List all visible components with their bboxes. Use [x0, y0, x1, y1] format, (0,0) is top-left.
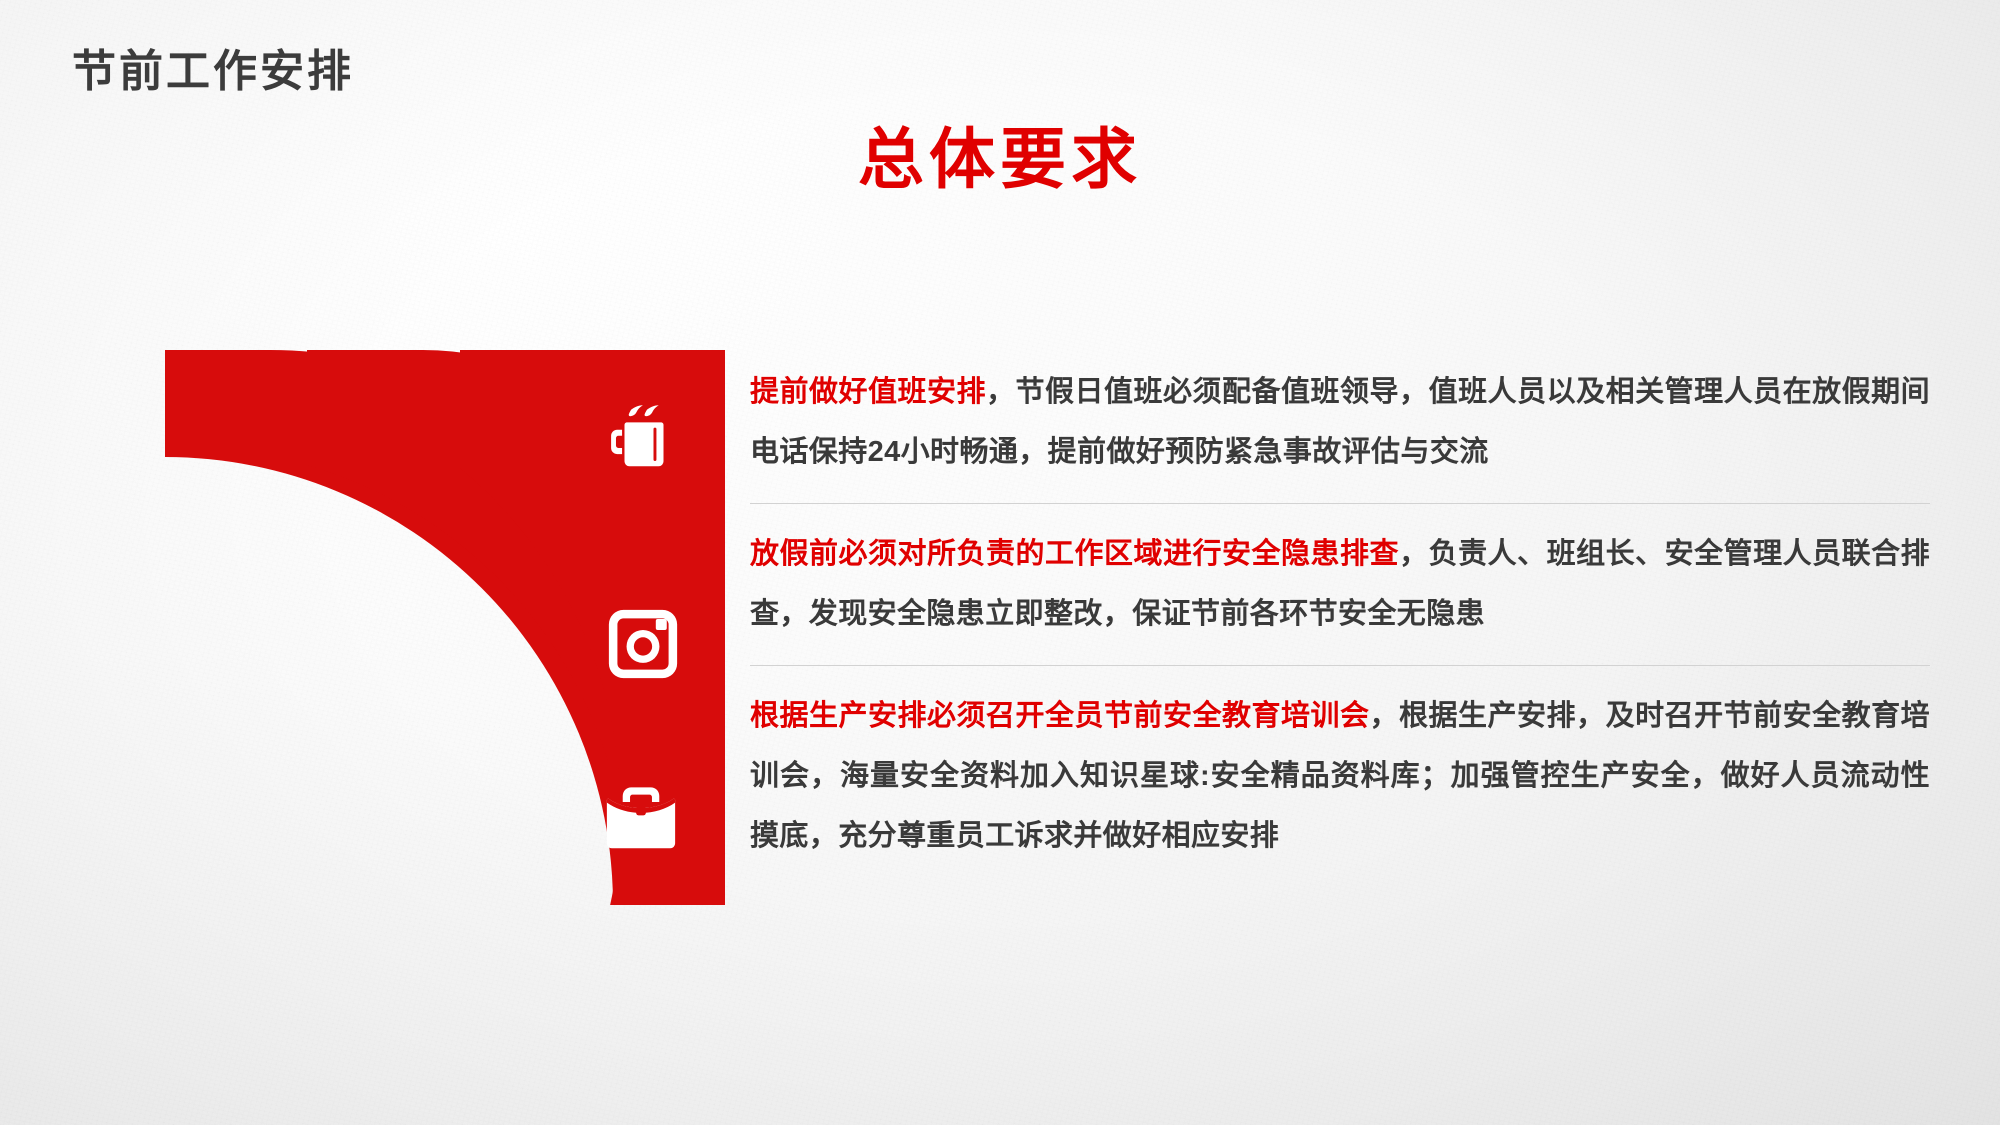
item-lead-text: 提前做好值班安排 [750, 376, 986, 408]
list-divider [750, 503, 1930, 504]
item-paragraph: 根据生产安排必须召开全员节前安全教育培训会，根据生产安排，及时召开节前安全教育培… [750, 686, 1930, 866]
list-item: 根据生产安排必须召开全员节前安全教育培训会，根据生产安排，及时召开节前安全教育培… [750, 686, 1930, 866]
coffee-mug-icon [605, 398, 683, 476]
item-paragraph: 提前做好值班安排，节假日值班必须配备值班领导，值班人员以及相关管理人员在放假期间… [750, 362, 1930, 482]
item-lead-text: 放假前必须对所负责的工作区域进行安全隐患排查 [750, 538, 1399, 570]
briefcase-icon [602, 780, 680, 858]
instagram-camera-icon [604, 605, 682, 683]
list-item: 放假前必须对所负责的工作区域进行安全隐患排查，负责人、班组长、安全管理人员联合排… [750, 524, 1930, 644]
list-item: 提前做好值班安排，节假日值班必须配备值班领导，值班人员以及相关管理人员在放假期间… [750, 362, 1930, 482]
page-title: 节前工作安排 [72, 35, 354, 99]
slide-canvas: 节前工作安排 总体要求 提前做好值班安排 [0, 0, 2000, 1125]
item-paragraph: 放假前必须对所负责的工作区域进行安全隐患排查，负责人、班组长、安全管理人员联合排… [750, 524, 1930, 644]
list-divider [750, 665, 1930, 666]
item-lead-text: 根据生产安排必须召开全员节前安全教育培训会 [750, 700, 1370, 732]
main-heading: 总体要求 [0, 106, 2000, 202]
arc-band-inner [460, 350, 725, 905]
requirements-list: 提前做好值班安排，节假日值班必须配备值班领导，值班人员以及相关管理人员在放假期间… [750, 362, 1930, 866]
